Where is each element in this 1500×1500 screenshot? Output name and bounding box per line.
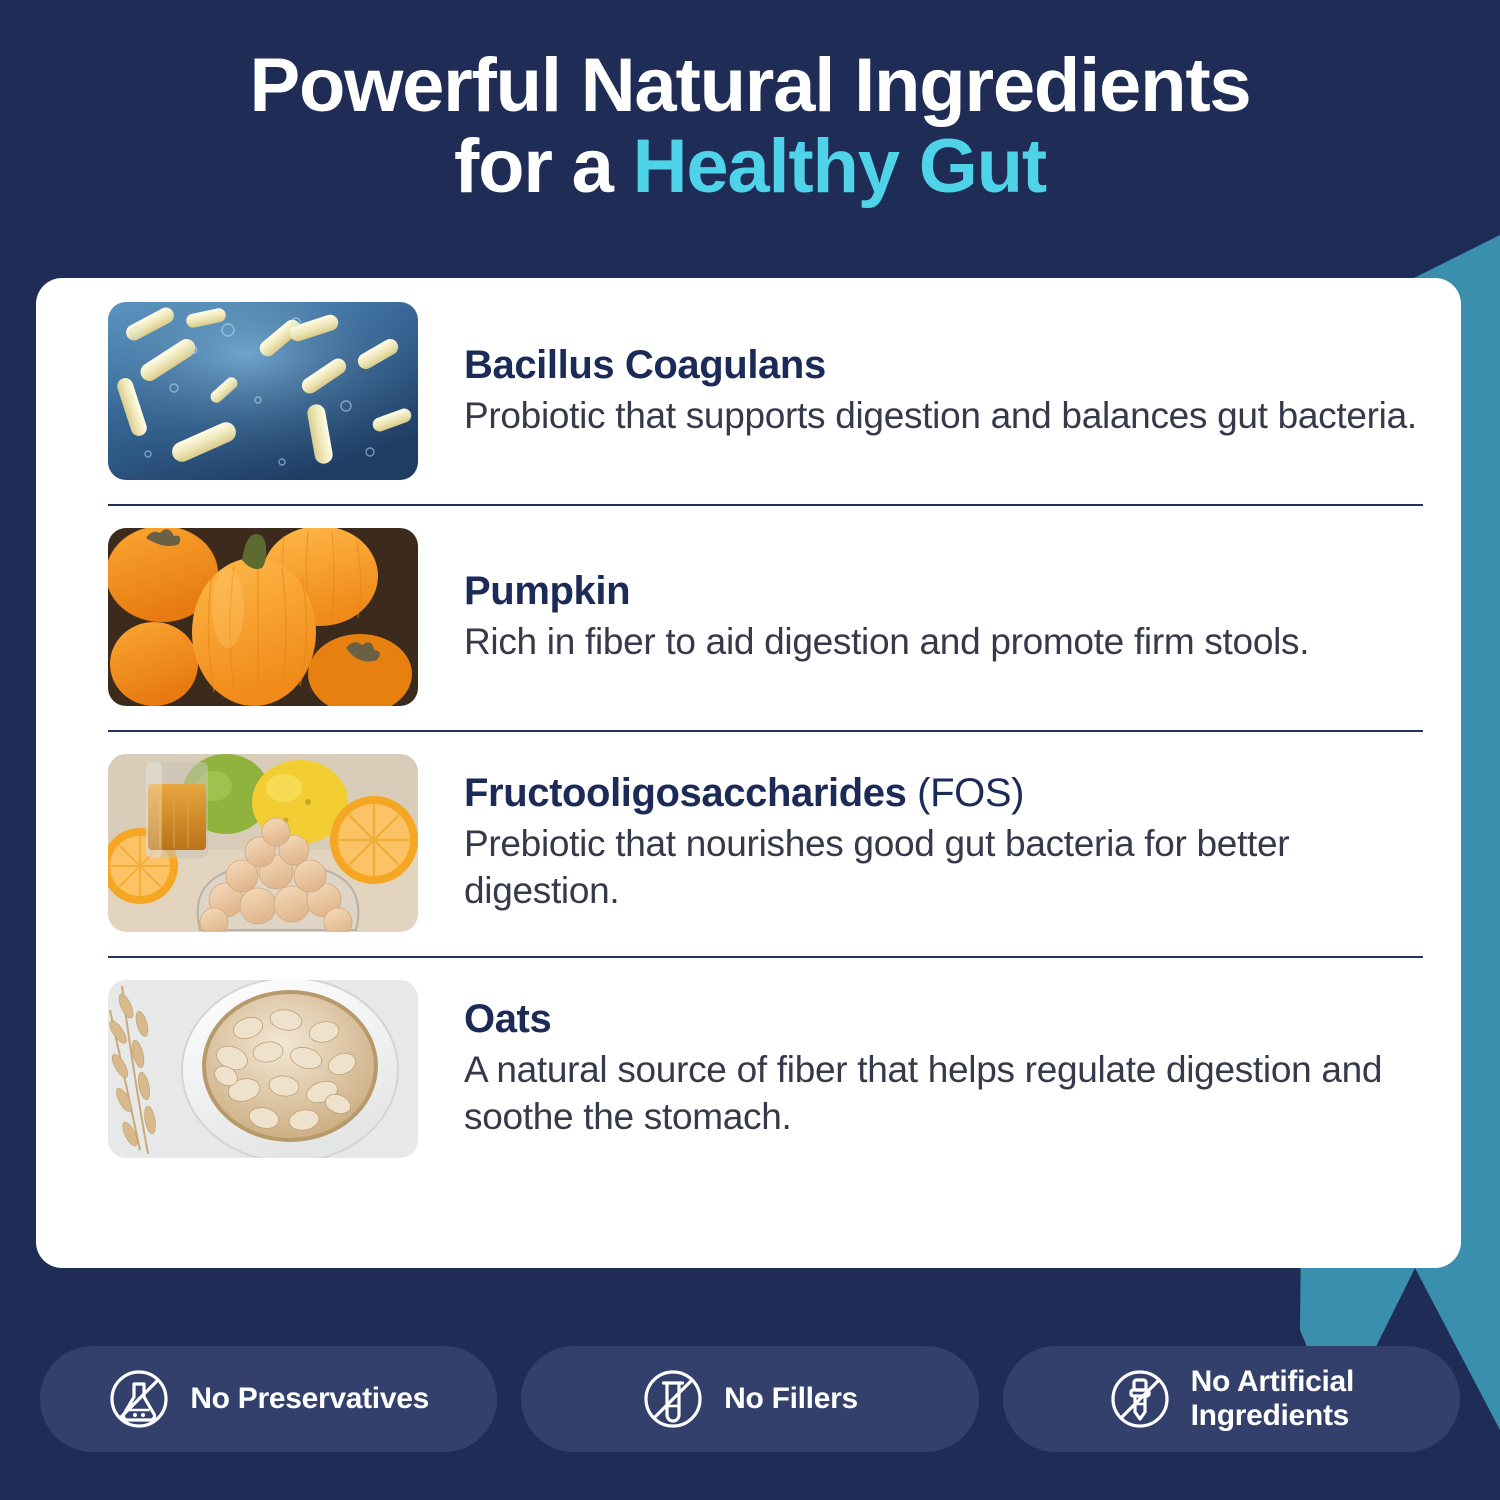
title-line-2-accent: Healthy Gut <box>633 124 1046 209</box>
ingredient-name: Bacillus Coagulans <box>464 343 1425 388</box>
ingredient-name: Pumpkin <box>464 569 1425 614</box>
ingredients-card: Bacillus Coagulans Probiotic that suppor… <box>36 278 1461 1268</box>
badge-label: No Fillers <box>724 1382 858 1416</box>
no-fillers-test-tube-icon <box>642 1368 704 1430</box>
ingredient-name-main: Pumpkin <box>464 569 630 613</box>
fructooligosaccharides-image <box>108 754 418 932</box>
ingredient-description: Probiotic that supports digestion and ba… <box>464 392 1425 439</box>
title-line-2-plain: for a <box>454 124 633 209</box>
ingredient-row: Bacillus Coagulans Probiotic that suppor… <box>72 278 1425 504</box>
ingredient-description: A natural source of fiber that helps reg… <box>464 1046 1425 1141</box>
ingredient-text: Bacillus Coagulans Probiotic that suppor… <box>464 343 1425 439</box>
ingredient-text: Fructooligosaccharides (FOS) Prebiotic t… <box>464 771 1425 915</box>
ingredient-description: Prebiotic that nourishes good gut bacter… <box>464 820 1425 915</box>
ingredient-row: Pumpkin Rich in fiber to aid digestion a… <box>72 504 1425 730</box>
badge-no-preservatives[interactable]: No Preservatives <box>40 1346 497 1452</box>
ingredient-description: Rich in fiber to aid digestion and promo… <box>464 618 1425 665</box>
ingredient-name-suffix: (FOS) <box>906 771 1024 815</box>
ingredient-text: Oats A natural source of fiber that help… <box>464 997 1425 1141</box>
no-preservatives-flask-icon <box>108 1368 170 1430</box>
pumpkin-image <box>108 528 418 706</box>
ingredient-name: Fructooligosaccharides (FOS) <box>464 771 1425 816</box>
badge-no-fillers[interactable]: No Fillers <box>521 1346 978 1452</box>
guarantee-badges: No Preservatives No Fillers No <box>40 1346 1460 1452</box>
title-line-1: Powerful Natural Ingredients <box>249 43 1250 128</box>
ingredient-name-main: Fructooligosaccharides <box>464 771 906 815</box>
no-artificial-ingredients-dropper-icon <box>1109 1368 1171 1430</box>
badge-no-artificial-ingredients[interactable]: No Artificial Ingredients <box>1003 1346 1460 1452</box>
badge-label: No Preservatives <box>190 1382 429 1416</box>
ingredient-text: Pumpkin Rich in fiber to aid digestion a… <box>464 569 1425 665</box>
ingredient-name-main: Bacillus Coagulans <box>464 343 826 387</box>
header: Powerful Natural Ingredients for a Healt… <box>0 0 1500 207</box>
ingredient-name: Oats <box>464 997 1425 1042</box>
ingredient-row: Oats A natural source of fiber that help… <box>72 956 1425 1182</box>
oats-image <box>108 980 418 1158</box>
ingredient-name-main: Oats <box>464 997 551 1041</box>
ingredient-row: Fructooligosaccharides (FOS) Prebiotic t… <box>72 730 1425 956</box>
page-title: Powerful Natural Ingredients for a Healt… <box>60 46 1440 207</box>
badge-label: No Artificial Ingredients <box>1191 1365 1354 1432</box>
bacillus-coagulans-image <box>108 302 418 480</box>
